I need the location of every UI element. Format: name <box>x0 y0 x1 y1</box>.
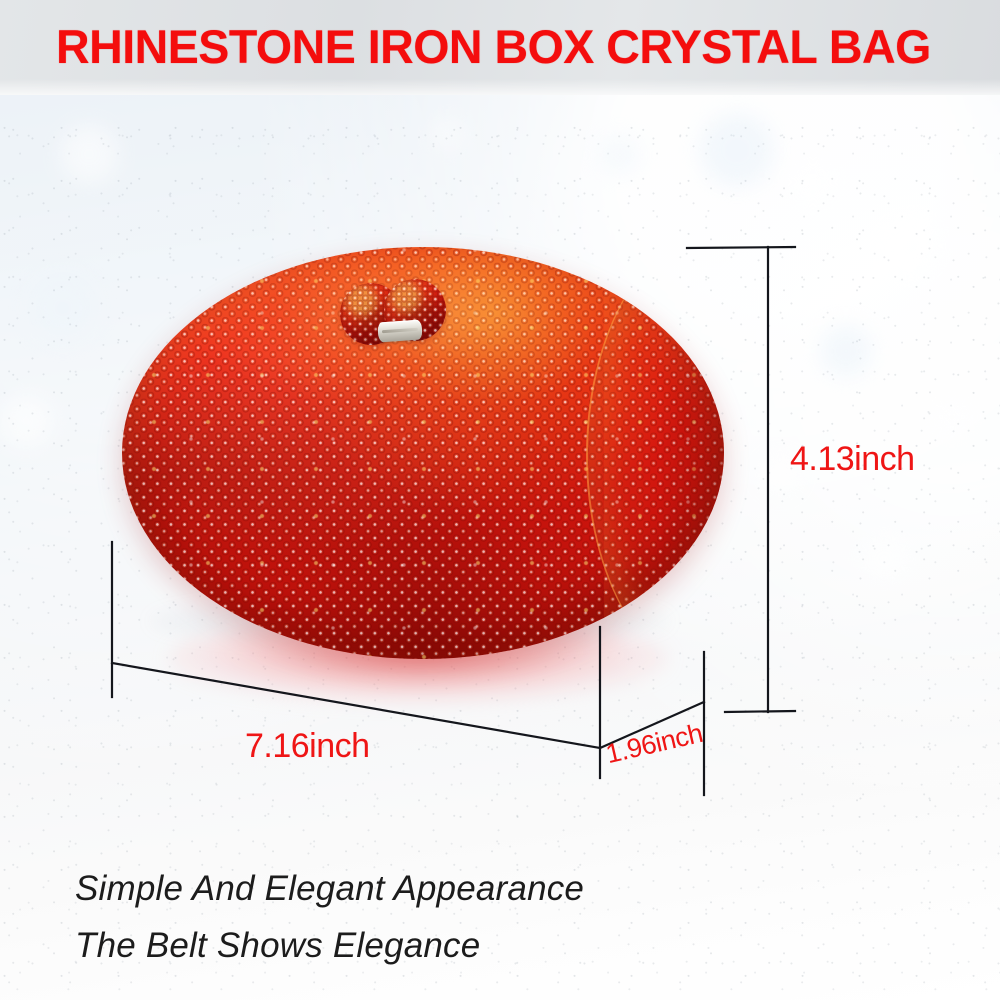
product-photo: 4.13inch 7.16inch 1.96inch Simple And El… <box>0 95 1000 1000</box>
caption-line-2: The Belt Shows Elegance <box>75 917 715 974</box>
height-top-tick <box>687 247 795 248</box>
caption-line-1: Simple And Elegant Appearance <box>75 860 715 917</box>
product-image-canvas: RHINESTONE IRON BOX CRYSTAL BAG <box>0 0 1000 1000</box>
width-dimension-label: 7.16inch <box>245 727 370 766</box>
height-bottom-tick <box>725 711 795 712</box>
height-dimension-label: 4.13inch <box>790 440 915 479</box>
caption-block: Simple And Elegant Appearance The Belt S… <box>75 860 715 974</box>
header-band: RHINESTONE IRON BOX CRYSTAL BAG <box>0 0 1000 95</box>
page-title: RHINESTONE IRON BOX CRYSTAL BAG <box>56 18 947 76</box>
